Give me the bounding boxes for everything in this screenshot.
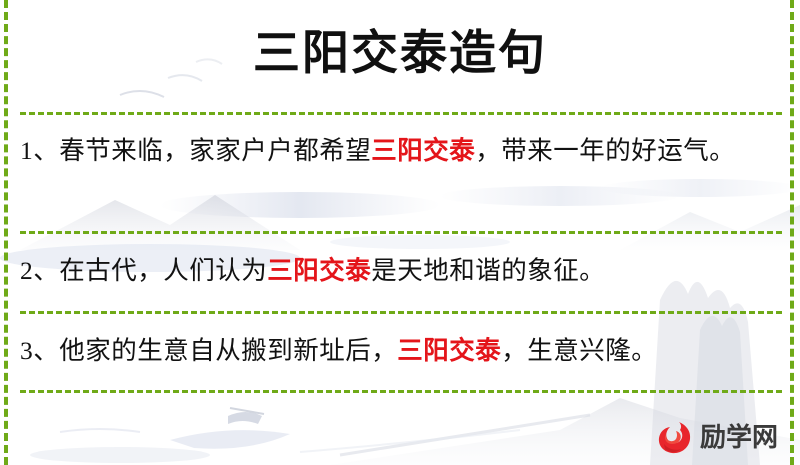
keyword-highlight-1: 三阳交泰 [371, 136, 475, 165]
divider-4 [20, 390, 782, 393]
flame-swirl-icon [655, 418, 695, 458]
divider-1 [20, 112, 782, 115]
divider-3 [20, 311, 782, 314]
keyword-highlight-2: 三阳交泰 [267, 256, 371, 285]
site-watermark-text: 励学网 [700, 418, 778, 458]
keyword-highlight-3: 三阳交泰 [397, 336, 501, 365]
sentence-item-2: 2、在古代，人们认为三阳交泰是天地和谐的象征。 [20, 250, 782, 292]
sentence-item-1: 1、春节来临，家家户户都希望三阳交泰，带来一年的好运气。 [20, 130, 782, 172]
sentence-number-2: 2、 [20, 256, 59, 285]
sentence-item-3: 3、他家的生意自从搬到新址后，三阳交泰，生意兴隆。 [20, 330, 782, 372]
sentence-number-1: 1、 [20, 136, 59, 165]
sentence-text-after-1: ，带来一年的好运气。 [475, 136, 735, 165]
sentence-number-3: 3、 [20, 336, 59, 365]
sentence-text-after-2: 是天地和谐的象征。 [371, 256, 605, 285]
page-title: 三阳交泰造句 [0, 22, 800, 86]
sentence-text-after-3: ，生意兴隆。 [501, 336, 657, 365]
sentence-text-before-1: 春节来临，家家户户都希望 [59, 136, 371, 165]
site-watermark-logo: 励学网 [655, 414, 793, 462]
divider-2 [20, 231, 782, 234]
sentence-text-before-2: 在古代，人们认为 [59, 256, 267, 285]
sentence-text-before-3: 他家的生意自从搬到新址后， [59, 336, 397, 365]
document-page: 三阳交泰造句 1、春节来临，家家户户都希望三阳交泰，带来一年的好运气。 2、在古… [0, 0, 800, 465]
